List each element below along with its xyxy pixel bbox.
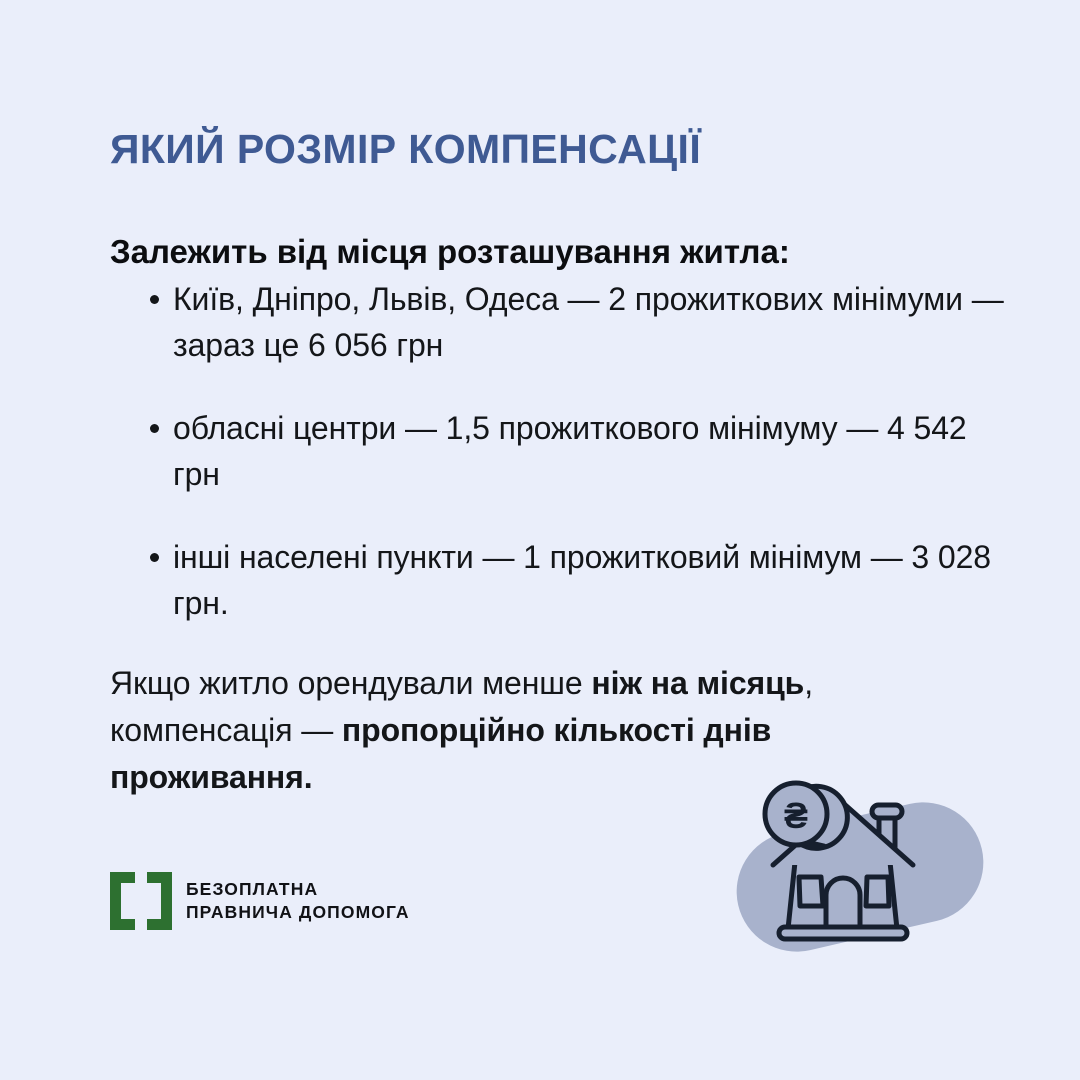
list-item: Київ, Дніпро, Львів, Одеса — 2 прожитков…	[110, 276, 1010, 368]
list-item-label: інші населені пункти — 1 прожитковий мін…	[173, 539, 991, 621]
closing-text-part-1: Якщо житло орендували менше	[110, 665, 591, 701]
hryvnia-speech-bubble: ₴	[765, 783, 847, 848]
list-item-label: Київ, Дніпро, Львів, Одеса — 2 прожитков…	[173, 281, 1004, 363]
subtitle: Залежить від місця розташування житла:	[110, 232, 1010, 272]
door	[826, 878, 860, 929]
bullet-dot-icon	[150, 553, 159, 562]
foundation	[779, 927, 907, 939]
page-title: ЯКИЙ РОЗМІР КОМПЕНСАЦІЇ	[110, 127, 990, 173]
compensation-list: Київ, Дніпро, Львів, Одеса — 2 прожитков…	[110, 276, 1010, 626]
logo-text: Безоплатна Правнича допомога	[186, 878, 410, 924]
list-item: інші населені пункти — 1 прожитковий мін…	[110, 534, 1010, 626]
infographic-card: ЯКИЙ РОЗМІР КОМПЕНСАЦІЇ Залежить від міс…	[0, 0, 1080, 1080]
organization-logo: Безоплатна Правнича допомога	[110, 872, 410, 930]
hryvnia-symbol: ₴	[784, 795, 808, 836]
list-item: обласні центри — 1,5 прожиткового мініму…	[110, 405, 1010, 497]
bullet-dot-icon	[150, 424, 159, 433]
list-item-label: обласні центри — 1,5 прожиткового мініму…	[173, 410, 967, 492]
square-brackets-icon	[110, 872, 172, 930]
logo-text-line-1: Безоплатна	[186, 878, 410, 901]
house-with-hryvnia-bubble-icon: ₴	[700, 762, 1000, 982]
logo-text-line-2: Правнича допомога	[186, 901, 410, 924]
bullet-dot-icon	[150, 295, 159, 304]
closing-text-part-2: ніж на місяць	[591, 665, 804, 701]
